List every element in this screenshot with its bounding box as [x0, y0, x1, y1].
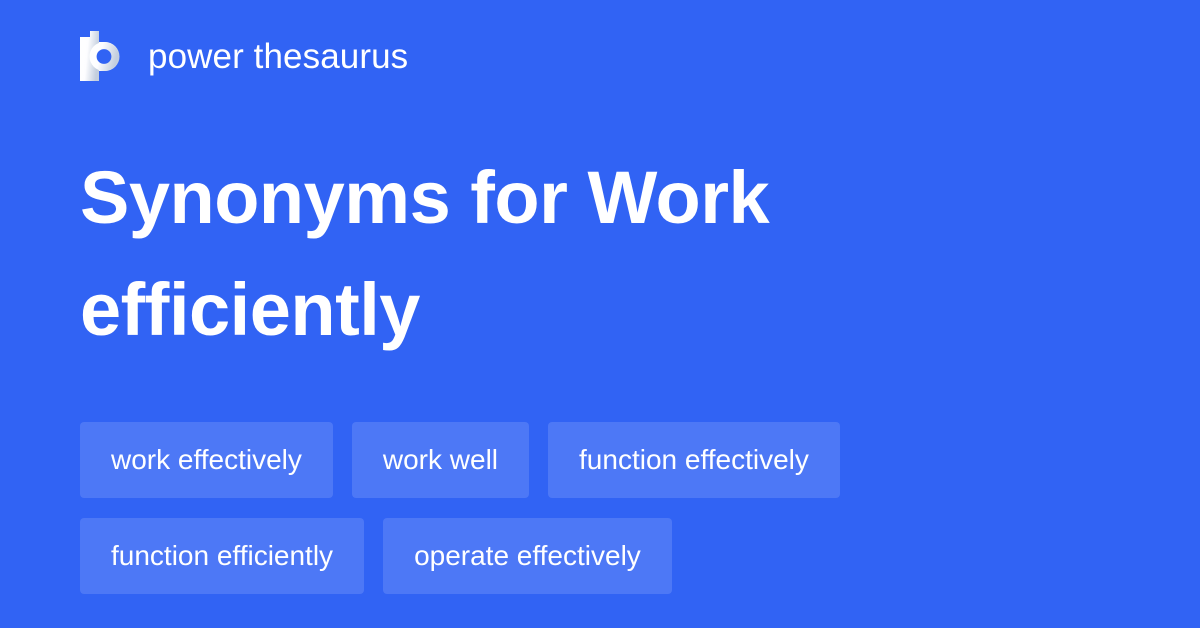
share-card: power thesaurus Synonyms for Work effici…	[0, 0, 1200, 628]
brand-header[interactable]: power thesaurus	[80, 31, 408, 81]
synonym-chip[interactable]: function efficiently	[80, 518, 364, 594]
synonym-chip[interactable]: work effectively	[80, 422, 333, 498]
synonym-chip[interactable]: work well	[352, 422, 529, 498]
page-title: Synonyms for Work efficiently	[80, 142, 980, 367]
brand-name: power thesaurus	[148, 39, 408, 74]
power-thesaurus-logo-icon	[80, 31, 126, 81]
synonym-chip-list: work effectively work well function effe…	[80, 422, 1130, 594]
synonym-chip[interactable]: operate effectively	[383, 518, 672, 594]
synonym-chip[interactable]: function effectively	[548, 422, 840, 498]
